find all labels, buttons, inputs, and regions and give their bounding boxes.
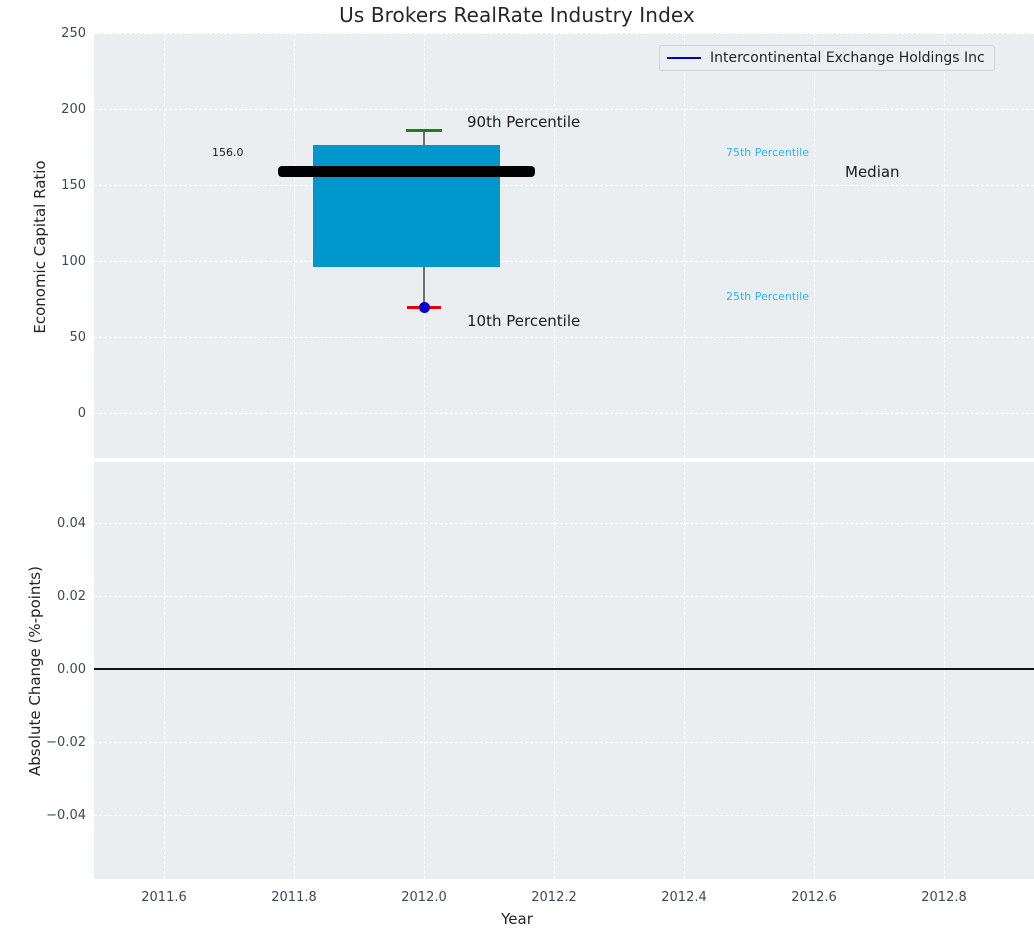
ytick-top-250: 250 <box>8 26 86 41</box>
gridline-v-b-2012-0 <box>424 462 425 879</box>
p90-cap-marker <box>406 129 442 132</box>
annotation-25th-percentile: 25th Percentile <box>726 290 809 303</box>
gridline-v-b-2012-4 <box>684 462 685 879</box>
ytick-bottom-m0-04: −0.04 <box>8 808 86 823</box>
gridline-v-2012-8 <box>944 33 945 458</box>
gridline-h-0 <box>94 413 1034 414</box>
gridline-v-2011-8 <box>294 33 295 458</box>
annotation-10th-percentile: 10th Percentile <box>467 312 580 330</box>
annotation-median: Median <box>845 163 900 181</box>
chart-figure: Us Brokers RealRate Industry Index 156.0 <box>0 0 1034 942</box>
gridline-v-2011-6 <box>164 33 165 458</box>
ytick-top-200: 200 <box>8 102 86 117</box>
panel-economic-capital-ratio: 156.0 90th Percentile 75th Percentile Me… <box>94 33 1034 458</box>
gridline-h-200 <box>94 109 1034 110</box>
gridline-v-b-2011-6 <box>164 462 165 879</box>
gridline-h-50 <box>94 337 1034 338</box>
median-value-label: 156.0 <box>212 146 244 159</box>
gridline-v-b-2012-2 <box>554 462 555 879</box>
xtick-2012-0: 2012.0 <box>379 890 469 905</box>
zero-reference-line <box>94 668 1034 670</box>
gridline-v-b-2011-8 <box>294 462 295 879</box>
gridline-v-2012-6 <box>814 33 815 458</box>
gridline-h-150 <box>94 185 1034 186</box>
x-axis-title: Year <box>0 910 1034 928</box>
gridline-v-b-2012-8 <box>944 462 945 879</box>
xtick-2012-4: 2012.4 <box>639 890 729 905</box>
chart-legend[interactable]: Intercontinental Exchange Holdings Inc <box>659 45 995 71</box>
ytick-bottom-0-00: 0.00 <box>8 662 86 677</box>
annotation-75th-percentile: 75th Percentile <box>726 146 809 159</box>
ytick-bottom-0-02: 0.02 <box>8 589 86 604</box>
annotation-90th-percentile: 90th Percentile <box>467 113 580 131</box>
gridline-v-2012-4 <box>684 33 685 458</box>
gridline-v-b-2012-6 <box>814 462 815 879</box>
gridline-h-250 <box>94 33 1034 34</box>
ytick-top-0: 0 <box>8 406 86 421</box>
gridline-h-100 <box>94 261 1034 262</box>
gridline-h-0-02 <box>94 596 1034 597</box>
iqr-box <box>313 145 500 267</box>
y-axis-title-top: Economic Capital Ratio <box>31 127 49 367</box>
gridline-h-0-04 <box>94 523 1034 524</box>
panel-absolute-change <box>94 462 1034 879</box>
y-axis-title-bottom: Absolute Change (%-points) <box>26 501 44 841</box>
gridline-v-2012-2 <box>554 33 555 458</box>
median-bar <box>278 166 535 177</box>
xtick-2012-8: 2012.8 <box>899 890 989 905</box>
ytick-bottom-0-04: 0.04 <box>8 516 86 531</box>
xtick-2011-6: 2011.6 <box>119 890 209 905</box>
ytick-bottom-m0-02: −0.02 <box>8 735 86 750</box>
company-marker-dot[interactable] <box>419 302 430 313</box>
xtick-2012-2: 2012.2 <box>509 890 599 905</box>
legend-entry-label: Intercontinental Exchange Holdings Inc <box>710 50 985 66</box>
xtick-2012-6: 2012.6 <box>769 890 859 905</box>
xtick-2011-8: 2011.8 <box>249 890 339 905</box>
gridline-h-m0-04 <box>94 815 1034 816</box>
chart-title: Us Brokers RealRate Industry Index <box>0 3 1034 27</box>
gridline-h-m0-02 <box>94 742 1034 743</box>
legend-line-swatch-icon <box>667 57 701 59</box>
